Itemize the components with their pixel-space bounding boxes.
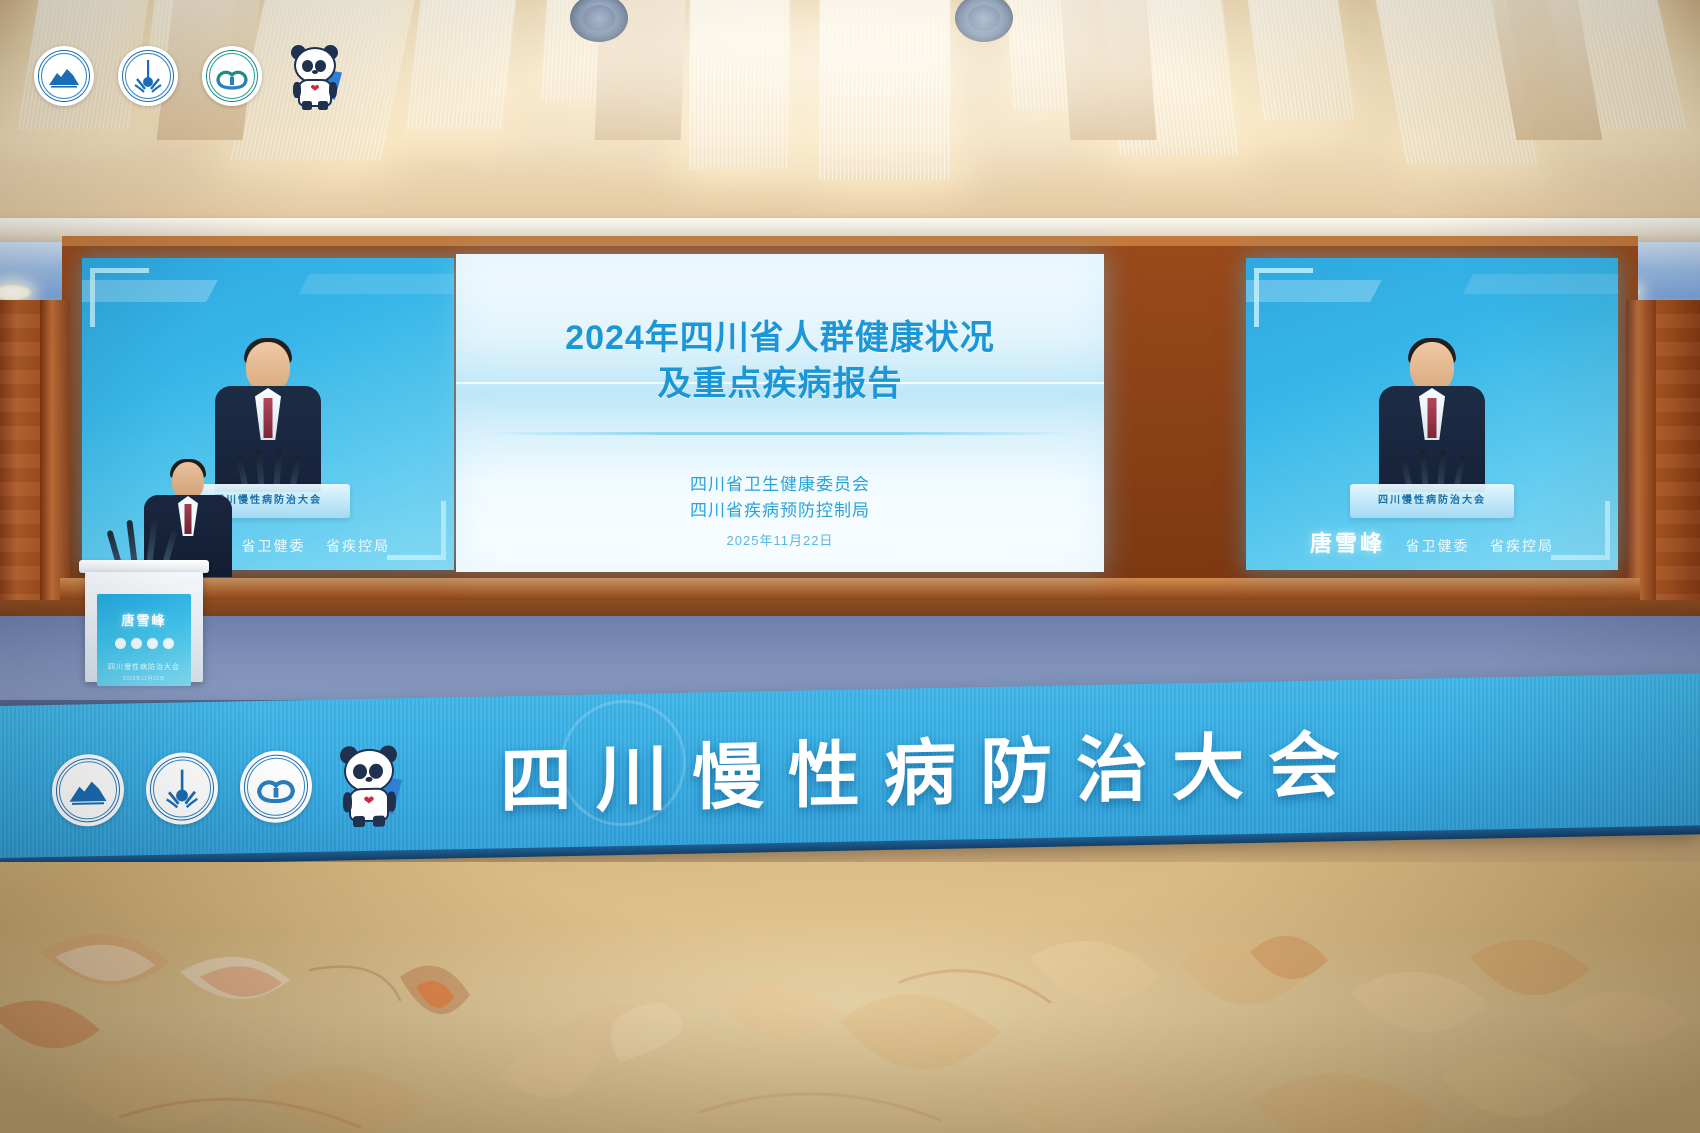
sichuan-preventive-medicine-association-icon (34, 46, 94, 106)
slide-title-line1: 2024年四川省人群健康状况 (456, 316, 1104, 362)
sichuan-anticancer-association-icon (146, 752, 218, 825)
slide-title-line2: 及重点疾病报告 (456, 362, 1104, 408)
screen-podium-text-right: 四川慢性病防治大会 (1350, 491, 1514, 506)
lectern-logo-2 (131, 638, 142, 649)
lectern-graphic-panel: 唐雪峰 四川慢性病防治大会 2025年11月22日 (97, 594, 191, 686)
conference-stage-photo: ❤ (0, 0, 1700, 1133)
panda-mascot-icon: ❤ (334, 742, 404, 827)
lectern-event-date: 2025年11月22日 (97, 675, 191, 682)
sichuan-preventive-medicine-association-icon (52, 754, 124, 827)
lectern-logo-row (97, 638, 191, 649)
microphone-group (233, 446, 303, 486)
lectern-panda-icon (163, 638, 174, 649)
side-screen-right: 四川慢性病防治大会 唐雪峰 省卫健委 省疾控局 (1246, 258, 1618, 570)
screen-podium-right: 四川慢性病防治大会 (1350, 484, 1514, 518)
slide-org-line1: 四川省卫生健康委员会 (456, 472, 1104, 498)
slide-divider (484, 432, 1076, 435)
ceiling (0, 0, 1700, 230)
lectern: 唐雪峰 四川慢性病防治大会 2025年11月22日 (85, 560, 203, 695)
panda-mascot-icon: ❤ (286, 42, 344, 110)
screen-caption-right: 唐雪峰 省卫健委 省疾控局 (1246, 526, 1618, 558)
sichuan-chronic-disease-institute-icon (240, 750, 312, 823)
sichuan-chronic-disease-institute-icon (202, 46, 262, 106)
slide-organizations: 四川省卫生健康委员会 四川省疾病预防控制局 (456, 472, 1104, 525)
slide-title: 2024年四川省人群健康状况 及重点疾病报告 (456, 316, 1104, 407)
lectern-logo-3 (147, 638, 158, 649)
lectern-event-name: 四川慢性病防治大会 (97, 662, 191, 672)
screen-speaker-name-right: 唐雪峰 (1310, 531, 1385, 556)
top-logo-row: ❤ (34, 42, 344, 110)
banner-logo-row: ❤ (52, 742, 404, 833)
microphone-group (1397, 446, 1467, 486)
microphone-group (107, 508, 187, 564)
screen-speaker-org1-right: 省卫健委 (1406, 538, 1470, 554)
lectern-body: 唐雪峰 四川慢性病防治大会 2025年11月22日 (85, 572, 203, 682)
slide-date: 2025年11月22日 (456, 530, 1104, 549)
slide-org-line2: 四川省疾病预防控制局 (456, 498, 1104, 524)
main-presentation-screen: 2024年四川省人群健康状况 及重点疾病报告 四川省卫生健康委员会 四川省疾病预… (456, 254, 1104, 572)
ceiling-vent (955, 0, 1013, 42)
lectern-speaker-name: 唐雪峰 (97, 610, 191, 629)
carpet-floor (0, 862, 1700, 1133)
screen-speaker-org2-left: 省疾控局 (326, 538, 390, 554)
lectern-logo-1 (115, 638, 126, 649)
screen-speaker-org1-left: 省卫健委 (242, 538, 306, 554)
screen-speaker-org2-right: 省疾控局 (1490, 538, 1554, 554)
wall-trim-bottom (60, 578, 1640, 600)
sichuan-anticancer-association-icon (118, 46, 178, 106)
